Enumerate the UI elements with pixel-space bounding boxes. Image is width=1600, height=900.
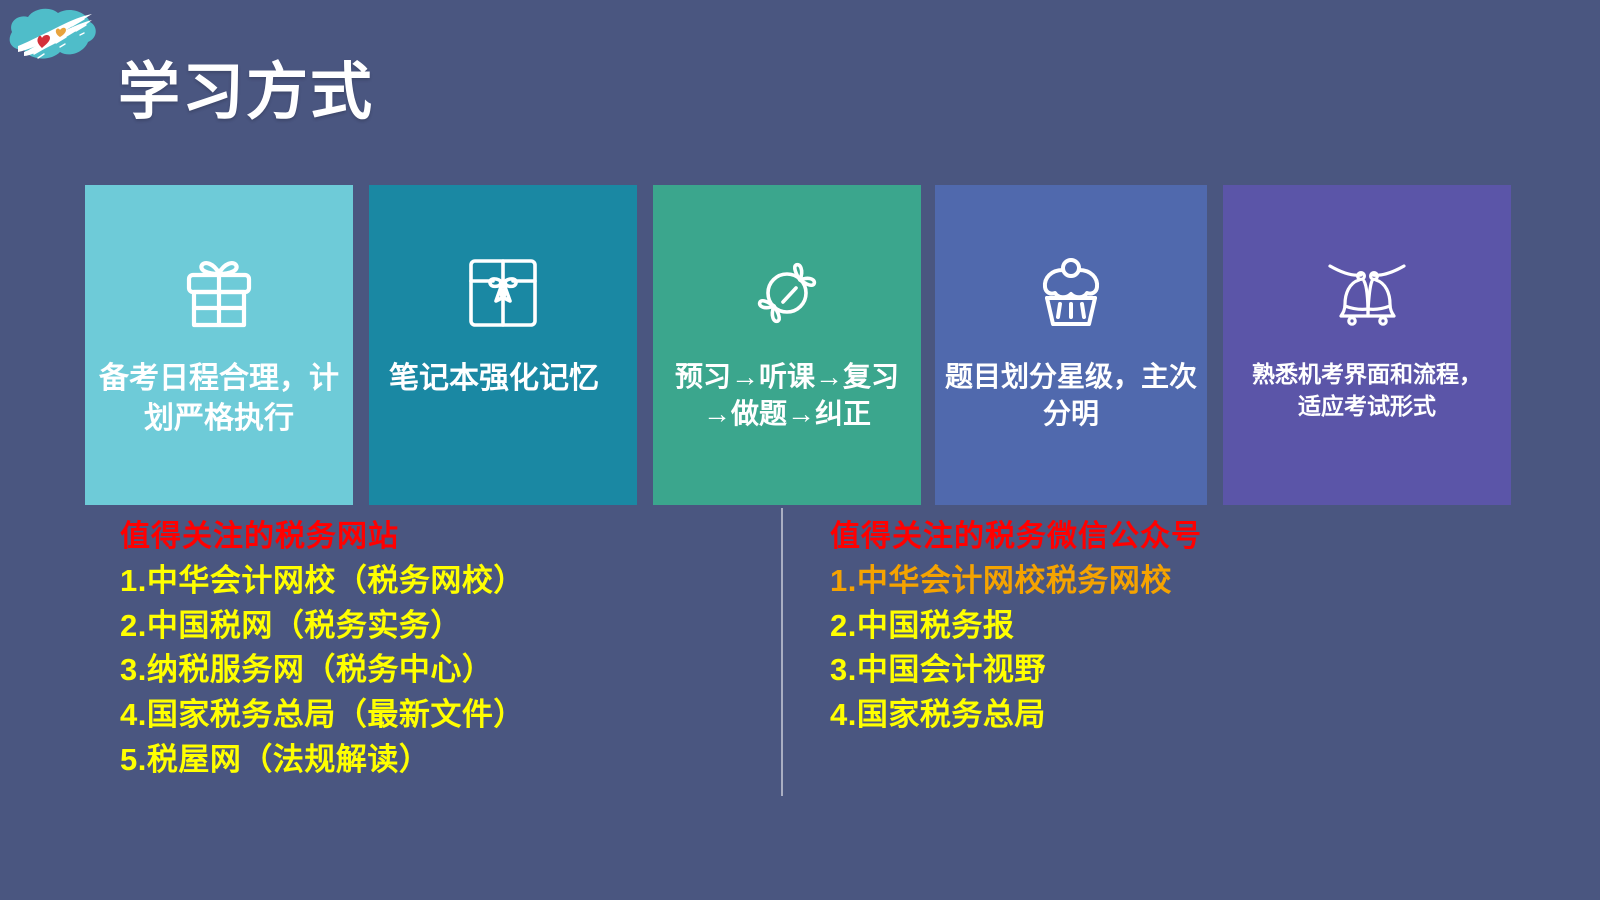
feature-card-1[interactable]: 备考日程合理，计划严格执行 [85, 185, 353, 505]
list-item-number: 1. [830, 559, 857, 604]
list-item[interactable]: 2.中国税网（税务实务） [120, 604, 525, 649]
list-item[interactable]: 4.国家税务总局（最新文件） [120, 693, 525, 738]
list-item-label: 中国税务报 [857, 608, 1015, 643]
list-item-number: 3. [120, 648, 147, 693]
list-item[interactable]: 3.纳税服务网（税务中心） [120, 648, 525, 693]
bells-icon [1324, 247, 1410, 339]
feature-card-3[interactable]: 预习→听课→复习→做题→纠正 [653, 185, 921, 505]
feature-card-3-label: 预习→听课→复习→做题→纠正 [653, 359, 921, 433]
list-item[interactable]: 4.国家税务总局 [830, 693, 1202, 738]
tax-websites-heading: 值得关注的税务网站 [120, 516, 525, 559]
list-item-label: 纳税服务网（税务中心） [147, 652, 494, 687]
feature-card-5[interactable]: 熟悉机考界面和流程，适应考试形式 [1223, 185, 1511, 505]
gift-box-top-icon [463, 247, 543, 339]
list-item-label: 中华会计网校（税务网校） [147, 563, 525, 598]
list-item-label: 国家税务总局（最新文件） [147, 697, 525, 732]
page-title: 学习方式 [118, 62, 374, 124]
list-item-label: 中华会计网校税务网校 [857, 563, 1172, 598]
candy-icon [744, 247, 830, 339]
cupcake-icon [1029, 247, 1113, 339]
tax-wechat-accounts-heading: 值得关注的税务微信公众号 [830, 516, 1202, 559]
list-item-label: 税屋网（法规解读） [147, 742, 431, 777]
feature-card-1-label: 备考日程合理，计划严格执行 [85, 359, 353, 438]
list-item-number: 4. [120, 693, 147, 738]
list-item[interactable]: 5.税屋网（法规解读） [120, 738, 525, 783]
feature-card-5-label: 熟悉机考界面和流程，适应考试形式 [1223, 359, 1511, 422]
list-item-number: 2. [120, 604, 147, 649]
gift-box-icon [175, 247, 263, 339]
tax-websites-list: 值得关注的税务网站 1.中华会计网校（税务网校） 2.中国税网（税务实务） 3.… [120, 516, 525, 783]
list-item-number: 1. [120, 559, 147, 604]
feature-card-2-label: 笔记本强化记忆 [369, 359, 637, 399]
list-item-number: 2. [830, 604, 857, 649]
feature-card-4[interactable]: 题目划分星级，主次分明 [935, 185, 1207, 505]
feature-card-row: 备考日程合理，计划严格执行 笔记本强化记忆 [85, 185, 1511, 505]
brush-stroke-logo [4, 2, 104, 72]
list-item-label: 中国会计视野 [857, 652, 1046, 687]
list-item-number: 5. [120, 738, 147, 783]
list-item-label: 国家税务总局 [857, 697, 1046, 732]
list-item[interactable]: 3.中国会计视野 [830, 648, 1202, 693]
list-item[interactable]: 2.中国税务报 [830, 604, 1202, 649]
list-item-label: 中国税网（税务实务） [147, 608, 462, 643]
feature-card-4-label: 题目划分星级，主次分明 [935, 359, 1207, 433]
feature-card-2[interactable]: 笔记本强化记忆 [369, 185, 637, 505]
column-divider [781, 508, 783, 796]
tax-wechat-accounts-list: 值得关注的税务微信公众号 1.中华会计网校税务网校 2.中国税务报 3.中国会计… [830, 516, 1202, 738]
list-item-number: 3. [830, 648, 857, 693]
list-item[interactable]: 1.中华会计网校（税务网校） [120, 559, 525, 604]
list-item-number: 4. [830, 693, 857, 738]
list-item[interactable]: 1.中华会计网校税务网校 [830, 559, 1202, 604]
